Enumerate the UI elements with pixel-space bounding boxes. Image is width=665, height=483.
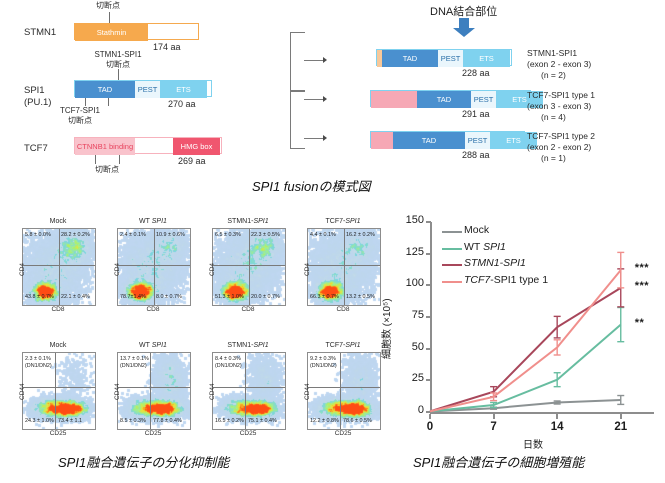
- fusion-n-1: (n = 2): [541, 70, 566, 81]
- significance-marker: ***: [635, 262, 649, 274]
- chart-y-tick-label: 125: [392, 246, 424, 258]
- legend-swatch: [442, 281, 462, 283]
- flow-x-axis-label: CD8: [22, 306, 94, 313]
- quadrant-stat-upper-right: 10.9 ± 0.6%: [156, 232, 185, 239]
- chart-x-tickmark: [429, 414, 431, 419]
- quadrant-stat-upper-left-sub: (DN1/DN2): [25, 363, 52, 370]
- cut-label-tcf7: 切断点: [77, 165, 137, 175]
- quadrant-stat-upper-left: 6.5 ± 0.3%: [215, 232, 241, 239]
- chart-error-bar: [490, 407, 497, 409]
- cut-tick-stmn1-spi1: [118, 69, 119, 80]
- significance-marker: **: [635, 317, 645, 329]
- cut-tick-stmn1: [109, 12, 110, 23]
- chart-x-tickmark: [620, 414, 622, 419]
- quadrant-stat-lower-right: 73.4 ± 1.1: [58, 418, 82, 425]
- domain-ctnnb1-binding: CTNNB1 binding: [75, 138, 135, 155]
- protein-bar-tcf7: CTNNB1 binding HMG box: [74, 137, 222, 154]
- fusion-length-1: 228 aa: [462, 68, 490, 78]
- quadrant-horizontal-line: [118, 265, 190, 266]
- quadrant-stat-upper-left-sub: (DN1/DN2): [215, 363, 242, 370]
- chart-y-tick-label: 25: [392, 372, 424, 384]
- legend-swatch: [442, 231, 462, 233]
- chart-error-bar: [617, 269, 624, 307]
- flow-x-axis-label: CD8: [307, 306, 379, 313]
- fusion-length-3: 288 aa: [462, 150, 490, 160]
- fusion-partner-segment-tcf7-1: [371, 91, 417, 108]
- flow-panel-title: Mock: [22, 218, 94, 225]
- cut-tick-tcf7-spi1-a: [85, 98, 86, 106]
- flow-x-axis-label: CD8: [117, 306, 189, 313]
- domain-hmg-box: HMG box: [173, 138, 220, 155]
- quadrant-stat-upper-right: 22.3 ± 0.5%: [251, 232, 280, 239]
- cut-tick-tcf7-a: [95, 155, 96, 164]
- fusion-domain-tad-1: TAD: [382, 50, 438, 67]
- legend-label: STMN1-SPI1: [464, 257, 526, 269]
- quadrant-vertical-line: [55, 353, 56, 429]
- chart-error-bar: [490, 403, 497, 408]
- chart-y-tick-label: 100: [392, 277, 424, 289]
- fusion-n-3: (n = 1): [541, 153, 566, 164]
- flow-y-axis-label: CD44: [209, 383, 216, 400]
- connector-1: [304, 60, 324, 61]
- length-label-tcf7: 269 aa: [178, 156, 206, 166]
- quadrant-stat-lower-right: 8.0 ± 0.7%: [156, 294, 182, 301]
- fusion-domain-pest-1: PEST: [438, 50, 463, 67]
- cut-tick-tcf7-b: [119, 155, 120, 164]
- quadrant-stat-lower-right: 22.1 ± 0.4%: [61, 294, 90, 301]
- flow-x-axis-label: CD25: [307, 430, 379, 437]
- quadrant-horizontal-line: [213, 265, 285, 266]
- legend-label: WT SPI1: [464, 241, 506, 253]
- fusion-exons-2: (exon 3 - exon 3): [527, 101, 591, 112]
- cut-label-tcf7-spi1-line2: 切断点: [40, 116, 120, 126]
- quadrant-stat-lower-right: 77.8 ± 0.4%: [153, 418, 182, 425]
- quadrant-stat-lower-right: 13.2 ± 0.5%: [346, 294, 375, 301]
- quadrant-vertical-line: [249, 229, 250, 305]
- chart-x-tickmark: [493, 414, 495, 419]
- quadrant-stat-upper-left: 2.3 ± 0.1%: [25, 356, 51, 363]
- connector-3: [304, 138, 324, 139]
- chart-y-tickmark: [426, 284, 431, 286]
- quadrant-stat-upper-right: 16.2 ± 0.2%: [346, 232, 375, 239]
- chart-y-tickmark: [426, 379, 431, 381]
- chart-y-tickmark: [426, 221, 431, 223]
- cut-label-stmn1-spi1-line1: STMN1-SPI1: [74, 50, 162, 60]
- flow-panel-title: STMN1-SPI1: [212, 342, 284, 349]
- protein-name-spi1: SPI1: [24, 85, 45, 96]
- arrowhead-1-icon: [323, 57, 327, 63]
- chart-x-axis-title: 日数: [523, 436, 543, 451]
- fusion-bar-stmn1-spi1: TAD PEST ETS: [376, 49, 512, 66]
- chart-error-bar: [554, 340, 561, 355]
- flow-x-axis-label: CD25: [117, 430, 189, 437]
- chart-line-stmn1-spi1: [430, 288, 621, 412]
- chart-error-bar: [554, 373, 561, 387]
- fusion-domain-pest-3: PEST: [465, 132, 490, 149]
- flow-panel-title: WT SPI1: [117, 342, 189, 349]
- quadrant-vertical-line: [150, 353, 151, 429]
- chart-error-bar: [617, 396, 624, 405]
- chart-y-tick-label: 0: [392, 404, 424, 416]
- chart-x-tick-label: 21: [605, 421, 637, 433]
- fusion-domain-pest-2: PEST: [471, 91, 496, 108]
- flow-x-axis-label: CD25: [212, 430, 284, 437]
- quadrant-stat-upper-left: 9.2 ± 0.3%: [310, 356, 336, 363]
- cut-label-tcf7-spi1-line1: TCF7-SPI1: [40, 106, 120, 116]
- domain-stathmin: Stathmin: [75, 24, 148, 41]
- chart-x-tick-label: 7: [478, 421, 510, 433]
- quadrant-vertical-line: [344, 229, 345, 305]
- fusion-name-3: TCF7-SPI1 type 2: [527, 131, 595, 142]
- chart-error-bar: [490, 387, 497, 397]
- quadrant-horizontal-line: [308, 387, 380, 388]
- fusion-exons-1: (exon 2 - exon 3): [527, 59, 591, 70]
- quadrant-stat-upper-left: 5.8 ± 0.0%: [25, 232, 51, 239]
- flow-y-axis-label: CD44: [19, 383, 26, 400]
- bracket-tcf7-spi1: [290, 91, 305, 149]
- quadrant-stat-lower-left: 78.7±1.4%: [120, 294, 146, 301]
- quadrant-stat-lower-right: 20.0 ± 0.7%: [251, 294, 280, 301]
- protein-name-stmn1: STMN1: [24, 27, 56, 38]
- caption-flow: SPI1融合遺伝子の分化抑制能: [58, 452, 229, 471]
- chart-error-bar: [617, 308, 624, 342]
- fusion-name-2: TCF7-SPI1 type 1: [527, 90, 595, 101]
- fusion-bar-tcf7-spi1-type2: TAD PEST ETS: [370, 131, 525, 148]
- quadrant-stat-upper-left: 13.7 ± 0.1%: [120, 356, 149, 363]
- flow-y-axis-label: CD44: [304, 383, 311, 400]
- flow-panel-title: TCF7-SPI1: [307, 342, 379, 349]
- dna-binding-site-label: DNA結合部位: [430, 3, 497, 19]
- chart-error-bar: [554, 316, 561, 338]
- chart-line-wt-spi1: [430, 325, 621, 412]
- chart-y-tick-label: 150: [392, 214, 424, 226]
- fusion-domain-tad-2: TAD: [417, 91, 471, 108]
- quadrant-stat-lower-left: 16.5 ± 0.2%: [215, 418, 244, 425]
- quadrant-stat-upper-left-sub: (DN1/DN2): [120, 363, 147, 370]
- quadrant-stat-upper-left-sub: (DN1/DN2): [310, 363, 337, 370]
- flow-x-axis-label: CD8: [212, 306, 284, 313]
- quadrant-stat-lower-left: 12.2 ± 0.8%: [310, 418, 339, 425]
- caption-growth: SPI1融合遺伝子の細胞増殖能: [413, 452, 584, 471]
- quadrant-stat-lower-right: 78.6 ± 0.5%: [343, 418, 372, 425]
- chart-y-tick-label: 75: [392, 309, 424, 321]
- quadrant-stat-lower-left: 51.3 ± 1.0%: [215, 294, 244, 301]
- chart-y-tickmark: [426, 411, 431, 413]
- flow-y-axis-label: CD4: [114, 263, 121, 276]
- protein-name-tcf7: TCF7: [24, 143, 48, 154]
- chart-y-axis: [430, 222, 432, 414]
- fusion-n-2: (n = 4): [541, 112, 566, 123]
- flow-panel-title: Mock: [22, 342, 94, 349]
- chart-error-bar: [490, 393, 497, 401]
- bracket-stmn1-spi1: [290, 32, 305, 91]
- protein-bar-stmn1: Stathmin: [74, 23, 199, 40]
- chart-y-tick-label: 50: [392, 341, 424, 353]
- chart-y-tickmark: [426, 348, 431, 350]
- flow-panel-title: WT SPI1: [117, 218, 189, 225]
- legend-swatch: [442, 264, 462, 266]
- cut-tick-tcf7-spi1-b: [108, 98, 109, 106]
- protein-bar-spi1: TAD PEST ETS: [74, 80, 212, 97]
- quadrant-horizontal-line: [23, 265, 95, 266]
- chart-x-tick-label: 0: [414, 421, 446, 433]
- quadrant-vertical-line: [245, 353, 246, 429]
- quadrant-vertical-line: [340, 353, 341, 429]
- legend-label: Mock: [464, 224, 489, 236]
- chart-x-tickmark: [556, 414, 558, 419]
- fusion-partner-segment-tcf7-2: [371, 132, 393, 149]
- domain-ets-spi1: ETS: [160, 81, 207, 98]
- quadrant-stat-lower-left: 66.3 ± 0.7%: [310, 294, 339, 301]
- fusion-bar-tcf7-spi1-type1: TAD PEST ETS: [370, 90, 531, 107]
- quadrant-horizontal-line: [308, 265, 380, 266]
- chart-error-bar: [554, 401, 561, 404]
- quadrant-stat-upper-left: 2.4 ± 0.1%: [120, 232, 146, 239]
- fusion-length-2: 291 aa: [462, 109, 490, 119]
- significance-marker: ***: [635, 280, 649, 292]
- arrowhead-3-icon: [323, 135, 327, 141]
- quadrant-stat-lower-right: 75.1 ± 0.4%: [248, 418, 277, 425]
- chart-error-bar: [617, 252, 624, 287]
- flow-y-axis-label: CD4: [209, 263, 216, 276]
- fusion-name-1: STMN1-SPI1: [527, 48, 577, 59]
- quadrant-stat-upper-left: 4.4 ± 0.1%: [310, 232, 336, 239]
- arrowhead-2-icon: [323, 96, 327, 102]
- chart-y-axis-title: 細胞数 (×10⁵): [378, 298, 393, 359]
- flow-y-axis-label: CD4: [19, 263, 26, 276]
- chart-x-tick-label: 14: [541, 421, 573, 433]
- chart-line-mock: [430, 400, 621, 412]
- quadrant-horizontal-line: [213, 387, 285, 388]
- flow-x-axis-label: CD25: [22, 430, 94, 437]
- quadrant-stat-upper-left: 8.4 ± 0.3%: [215, 356, 241, 363]
- quadrant-vertical-line: [154, 229, 155, 305]
- legend-swatch: [442, 248, 462, 250]
- fusion-domain-ets-1: ETS: [463, 50, 510, 67]
- caption-schematic: SPI1 fusionの模式図: [252, 176, 371, 195]
- flow-y-axis-label: CD4: [304, 263, 311, 276]
- quadrant-stat-lower-left: 8.5 ± 0.3%: [120, 418, 146, 425]
- legend-label: TCF7-SPI1 type 1: [464, 274, 548, 286]
- chart-y-tickmark: [426, 316, 431, 318]
- chart-line-tcf7-spi1-type-1: [430, 270, 621, 411]
- cut-label-stmn1: 切断点: [78, 1, 138, 11]
- flow-y-axis-label: CD44: [114, 383, 121, 400]
- quadrant-horizontal-line: [118, 387, 190, 388]
- quadrant-stat-lower-left: 43.8 ± 0.7%: [25, 294, 54, 301]
- chart-y-tickmark: [426, 253, 431, 255]
- length-label-spi1: 270 aa: [168, 99, 196, 109]
- fusion-domain-tad-3: TAD: [393, 132, 465, 149]
- quadrant-horizontal-line: [23, 387, 95, 388]
- dna-binding-arrow-icon: [452, 18, 476, 38]
- domain-pest-spi1: PEST: [135, 81, 160, 98]
- domain-tad-spi1: TAD: [75, 81, 135, 98]
- flow-panel-title: TCF7-SPI1: [307, 218, 379, 225]
- quadrant-stat-lower-left: 24.3 ± 1.0%: [25, 418, 54, 425]
- fusion-exons-3: (exon 2 - exon 2): [527, 142, 591, 153]
- quadrant-vertical-line: [59, 229, 60, 305]
- flow-panel-title: STMN1-SPI1: [212, 218, 284, 225]
- quadrant-stat-upper-right: 28.2 ± 0.2%: [61, 232, 90, 239]
- connector-2: [304, 99, 324, 100]
